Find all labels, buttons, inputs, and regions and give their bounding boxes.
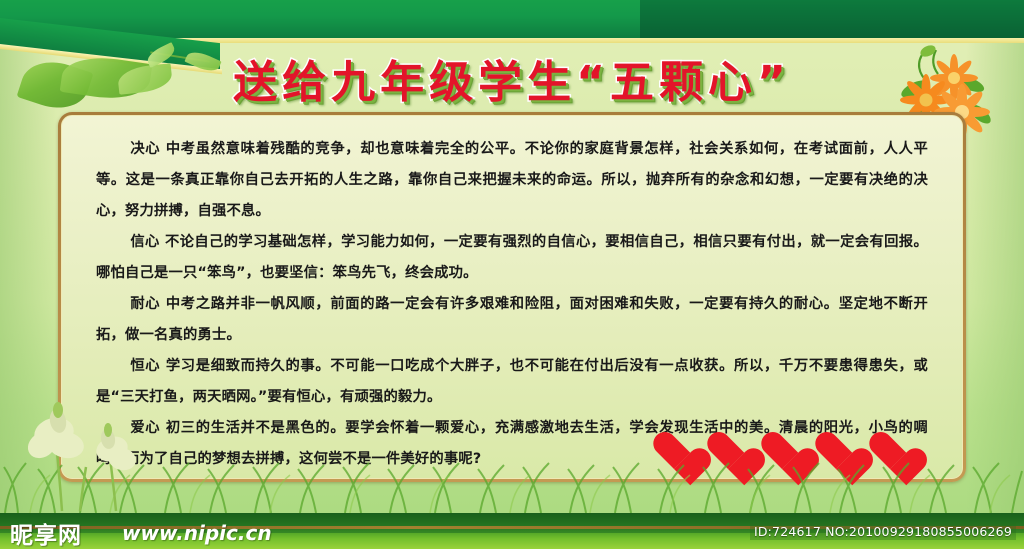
poster-title-area: 送给九年级学生“五颗心”	[0, 46, 1024, 108]
page-title: 送给九年级学生“五颗心”	[233, 46, 791, 110]
paragraph-confidence: 信心 不论自己的学习基础怎样，学习能力如何，一定要有强烈的自信心，要相信自己，相…	[96, 227, 928, 289]
paragraph-patience: 耐心 中考之路并非一帆风顺，前面的路一定会有许多艰难和险阻，面对困难和失败，一定…	[96, 289, 928, 351]
heart-icon	[814, 433, 858, 473]
watermark-url[interactable]: www.nipic.cn	[122, 521, 272, 545]
heart-row	[652, 433, 912, 473]
paragraph-determination: 决心 中考虽然意味着残酷的竞争，却也意味着完全的公平。不论你的家庭背景怎样，社会…	[96, 134, 928, 227]
heart-icon	[652, 433, 696, 473]
heart-icon	[760, 433, 804, 473]
heart-icon	[868, 433, 912, 473]
watermark-brand: 昵享网	[10, 516, 82, 549]
poster-canvas: 送给九年级学生“五颗心” 决心 中考虽然意味着残酷的竞争，却也意味着完全的公平。…	[0, 0, 1024, 549]
white-flower-cluster-icon	[8, 383, 228, 513]
watermark-id: ID:724617 NO:20100929180855006269	[750, 523, 1016, 540]
heart-icon	[706, 433, 750, 473]
footer-watermark-bar: 昵享网 www.nipic.cn ID:724617 NO:2010092918…	[0, 513, 1024, 549]
top-green-band-right	[640, 0, 1024, 38]
